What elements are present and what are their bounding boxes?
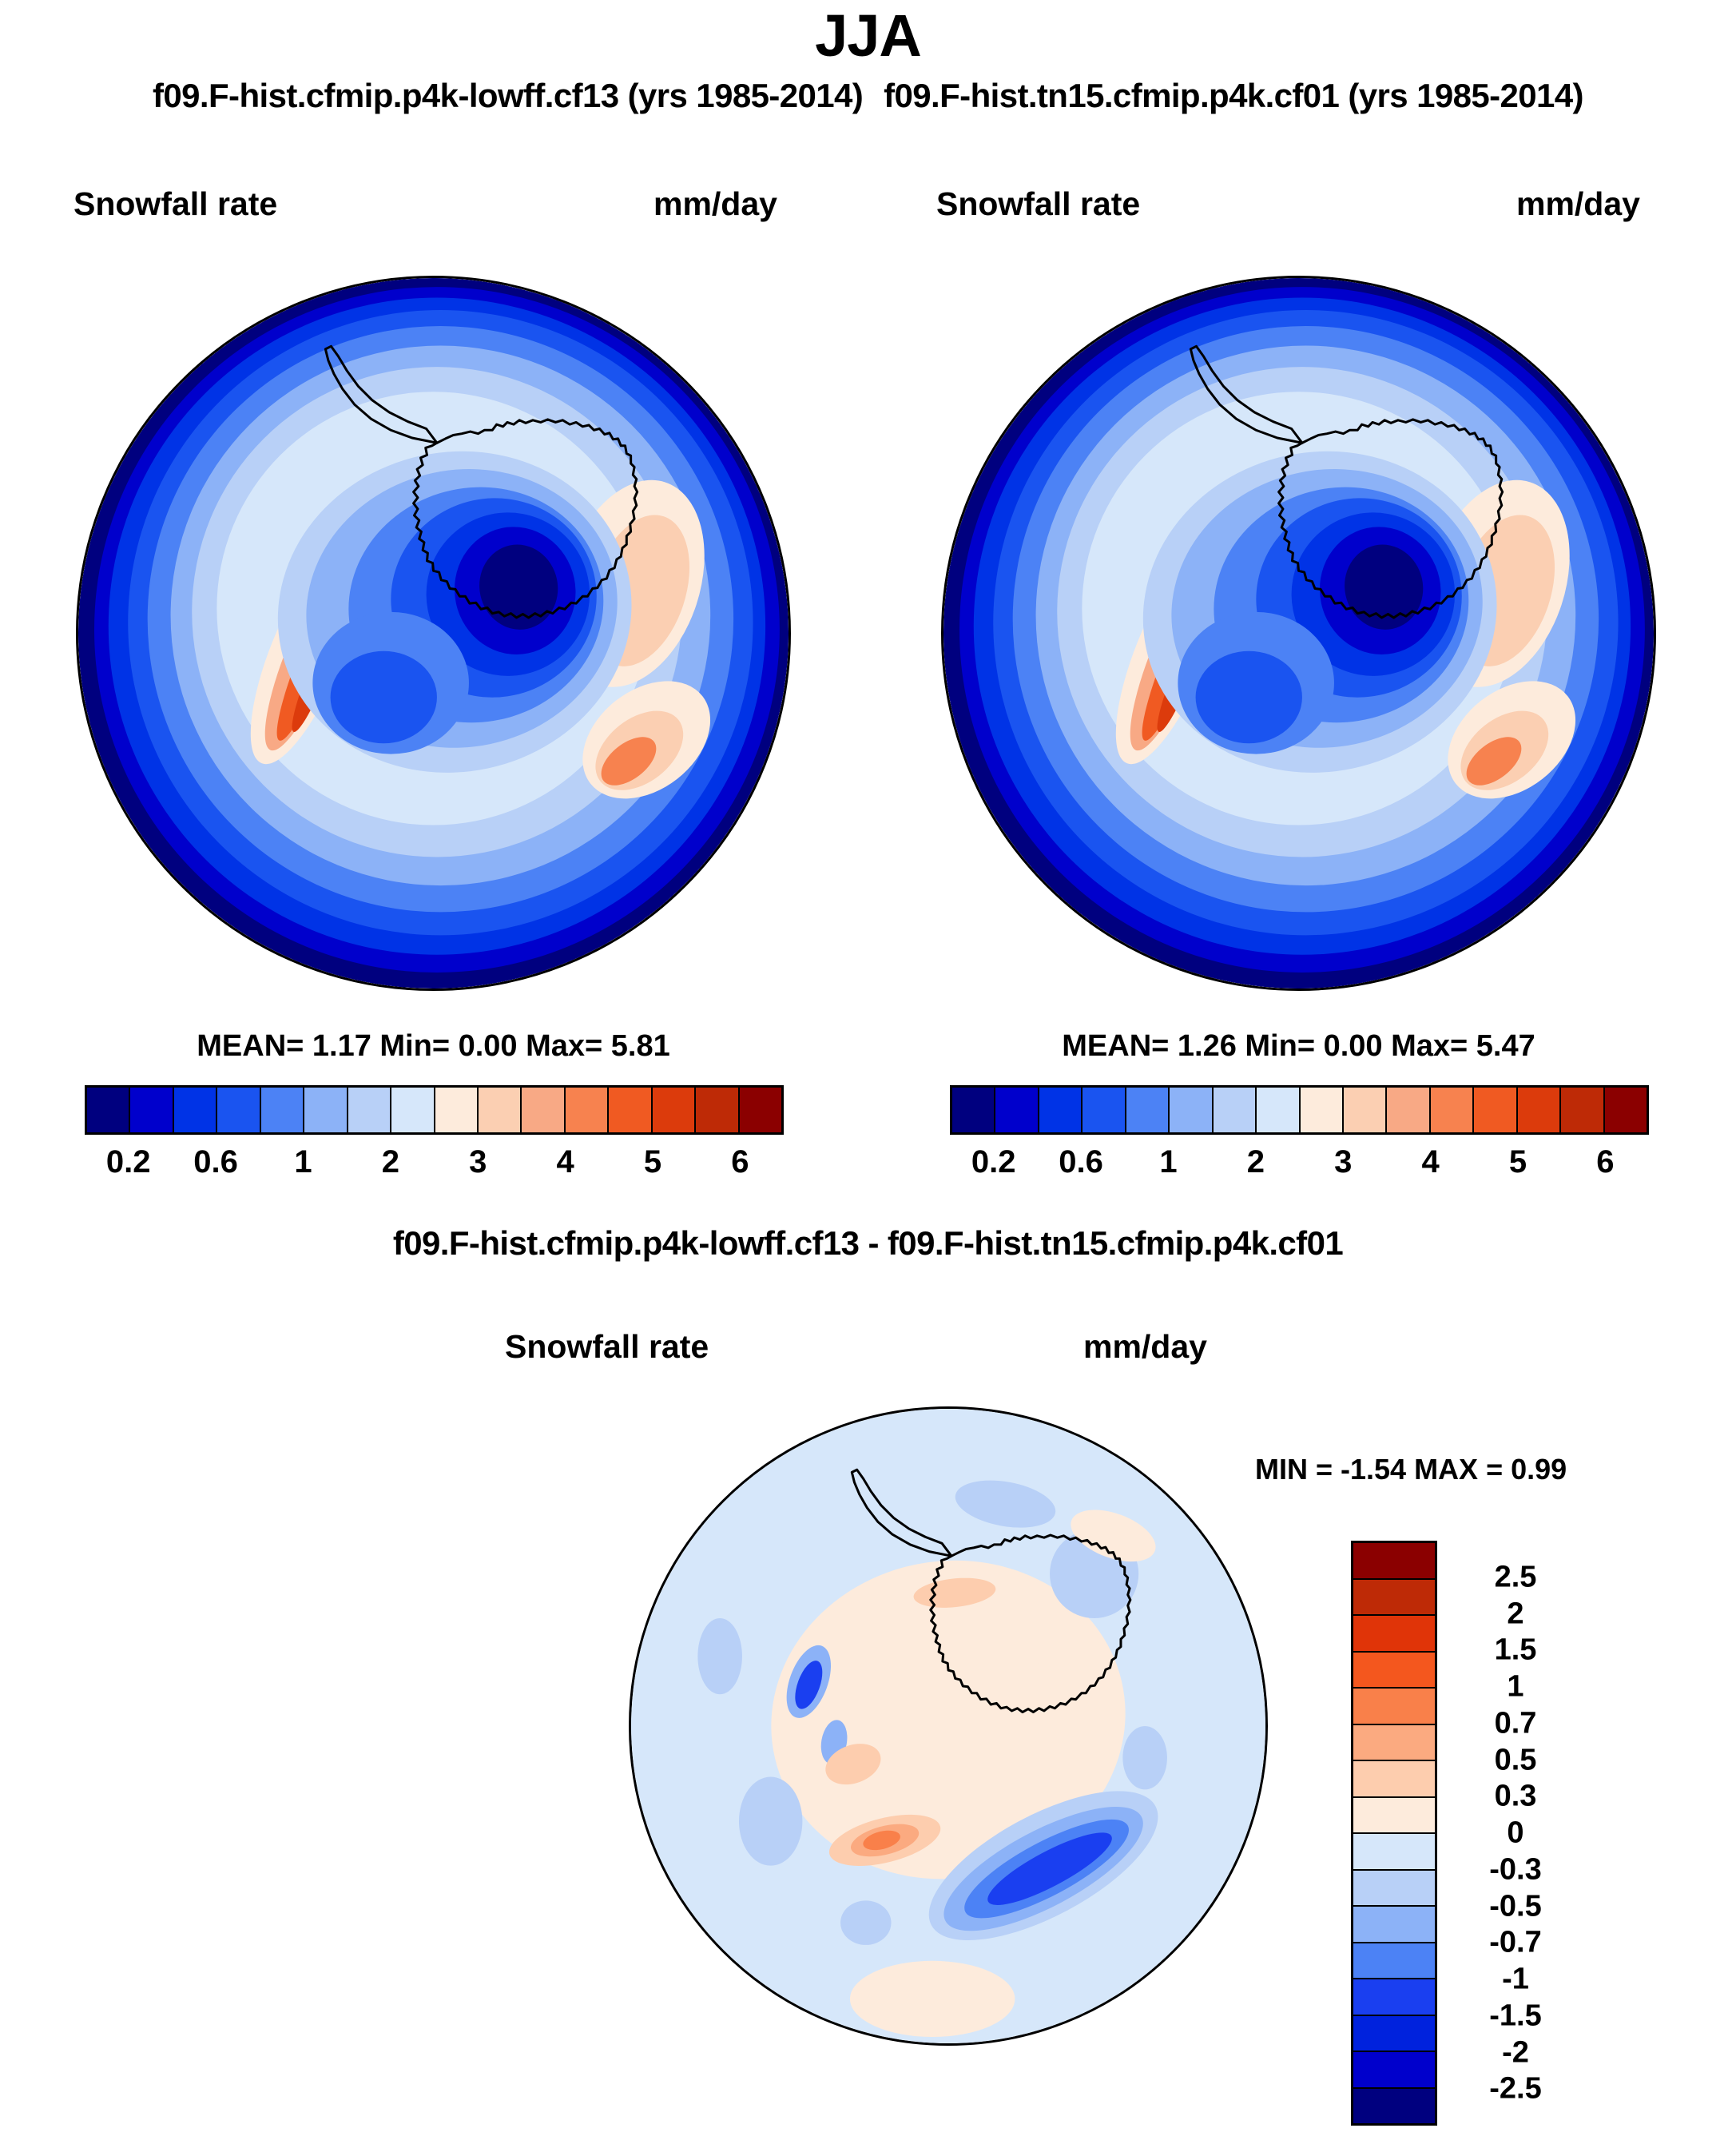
colorbar-tick-label: 0.3 <box>1448 1780 1583 1814</box>
colorbar-cell <box>1353 1907 1435 1943</box>
colorbar-cell <box>1353 1689 1435 1725</box>
colorbar-tick-label: 1 <box>1448 1670 1583 1704</box>
left-colorbar[interactable] <box>85 1085 784 1135</box>
colorbar-tick-label: 0.2 <box>106 1144 151 1180</box>
colorbar-tick-label: 5 <box>644 1144 661 1180</box>
case-titles: f09.F-hist.cfmip.p4k-lowff.cf13 (yrs 198… <box>0 77 1736 115</box>
colorbar-cell <box>1353 1834 1435 1871</box>
colorbar-cell <box>1039 1088 1083 1132</box>
colorbar-cell <box>1126 1088 1170 1132</box>
colorbar-tick-label: 3 <box>1334 1144 1352 1180</box>
difference-colorbar[interactable] <box>1351 1541 1437 2126</box>
colorbar-cell <box>1353 1616 1435 1653</box>
colorbar-tick-label: 2 <box>1448 1597 1583 1631</box>
colorbar-cell <box>1353 1725 1435 1762</box>
colorbar-cell <box>304 1088 348 1132</box>
colorbar-tick-label: 0.6 <box>1059 1144 1103 1180</box>
map-contours <box>631 1409 1265 2043</box>
right-panel-units-label: mm/day <box>1516 185 1640 223</box>
colorbar-cell <box>1344 1088 1387 1132</box>
colorbar-tick-label: 3 <box>469 1144 487 1180</box>
right-map-globe <box>941 276 1656 991</box>
right-colorbar-labels: 0.20.6123456 <box>950 1144 1649 1189</box>
colorbar-tick-label: -0.3 <box>1448 1852 1583 1887</box>
colorbar-cell <box>1301 1088 1344 1132</box>
colorbar-cell <box>522 1088 565 1132</box>
page-title: JJA <box>0 2 1736 70</box>
case-title-right: f09.F-hist.tn15.cfmip.p4k.cf01 (yrs 1985… <box>884 77 1583 114</box>
colorbar-cell <box>1561 1088 1604 1132</box>
colorbar-tick-label: 1 <box>294 1144 312 1180</box>
colorbar-tick-label: -2.5 <box>1448 2072 1583 2106</box>
colorbar-cell <box>1518 1088 1561 1132</box>
colorbar-tick-label: -0.5 <box>1448 1889 1583 1923</box>
colorbar-cell <box>261 1088 304 1132</box>
colorbar-cell <box>1353 1979 1435 2016</box>
colorbar-tick-label: 0 <box>1448 1816 1583 1851</box>
colorbar-tick-label: 0.2 <box>971 1144 1016 1180</box>
colorbar-cell <box>391 1088 435 1132</box>
colorbar-tick-label: -1 <box>1448 1963 1583 1997</box>
colorbar-tick-label: 1 <box>1159 1144 1177 1180</box>
colorbar-cell <box>696 1088 739 1132</box>
colorbar-tick-label: 0.7 <box>1448 1706 1583 1740</box>
colorbar-tick-label: 6 <box>1596 1144 1614 1180</box>
colorbar-cell <box>1214 1088 1257 1132</box>
colorbar-cell <box>1605 1088 1647 1132</box>
colorbar-cell <box>1353 1761 1435 1798</box>
colorbar-cell <box>740 1088 781 1132</box>
right-panel-variable-label: Snowfall rate <box>936 185 1140 223</box>
colorbar-cell <box>1353 2052 1435 2089</box>
colorbar-tick-label: 2 <box>382 1144 399 1180</box>
colorbar-cell <box>566 1088 609 1132</box>
colorbar-cell <box>130 1088 173 1132</box>
colorbar-tick-label: -2 <box>1448 2035 1583 2070</box>
colorbar-cell <box>1257 1088 1300 1132</box>
map-contours <box>943 278 1654 988</box>
colorbar-tick-label: 0.5 <box>1448 1743 1583 1777</box>
colorbar-tick-label: 6 <box>731 1144 749 1180</box>
right-colorbar[interactable] <box>950 1085 1649 1135</box>
colorbar-cell <box>609 1088 652 1132</box>
difference-map-globe <box>629 1406 1268 2046</box>
colorbar-cell <box>174 1088 217 1132</box>
colorbar-tick-label: -0.7 <box>1448 1926 1583 1960</box>
colorbar-tick-label: 2 <box>1247 1144 1265 1180</box>
colorbar-cell <box>1474 1088 1517 1132</box>
colorbar-cell <box>1353 1871 1435 1907</box>
colorbar-cell <box>479 1088 522 1132</box>
difference-panel-variable-label: Snowfall rate <box>505 1328 709 1366</box>
colorbar-cell <box>1353 1580 1435 1617</box>
map-contours <box>78 278 789 988</box>
left-map-globe <box>76 276 791 991</box>
colorbar-tick-label: 4 <box>1421 1144 1439 1180</box>
difference-panel-units-label: mm/day <box>1083 1328 1207 1366</box>
colorbar-cell <box>348 1088 391 1132</box>
colorbar-cell <box>217 1088 260 1132</box>
left-panel-stats: MEAN= 1.17 Min= 0.00 Max= 5.81 <box>76 1029 791 1064</box>
colorbar-cell <box>952 1088 995 1132</box>
colorbar-cell <box>87 1088 130 1132</box>
colorbar-cell <box>1431 1088 1474 1132</box>
difference-colorbar-labels: 2.521.510.70.50.30-0.3-0.5-0.7-1-1.5-2-2… <box>1448 1541 1583 2126</box>
colorbar-cell <box>1353 1653 1435 1689</box>
colorbar-tick-label: 0.6 <box>193 1144 238 1180</box>
colorbar-tick-label: 2.5 <box>1448 1560 1583 1594</box>
difference-minmax-label: MIN = -1.54 MAX = 0.99 <box>1255 1453 1567 1486</box>
colorbar-tick-label: 5 <box>1509 1144 1527 1180</box>
colorbar-cell <box>1353 2089 1435 2124</box>
colorbar-cell <box>1387 1088 1430 1132</box>
colorbar-cell <box>1353 1943 1435 1980</box>
colorbar-cell <box>435 1088 479 1132</box>
colorbar-tick-label: -1.5 <box>1448 1999 1583 2033</box>
figure-canvas: JJA f09.F-hist.cfmip.p4k-lowff.cf13 (yrs… <box>0 0 1736 2152</box>
colorbar-cell <box>1353 1543 1435 1580</box>
left-panel-units-label: mm/day <box>653 185 777 223</box>
difference-title: f09.F-hist.cfmip.p4k-lowff.cf13 - f09.F-… <box>0 1224 1736 1263</box>
colorbar-cell <box>653 1088 696 1132</box>
colorbar-cell <box>1170 1088 1213 1132</box>
colorbar-cell <box>1083 1088 1126 1132</box>
colorbar-tick-label: 1.5 <box>1448 1633 1583 1668</box>
left-colorbar-labels: 0.20.6123456 <box>85 1144 784 1189</box>
colorbar-cell <box>1353 1798 1435 1835</box>
colorbar-cell <box>995 1088 1039 1132</box>
colorbar-tick-label: 4 <box>556 1144 574 1180</box>
case-title-left: f09.F-hist.cfmip.p4k-lowff.cf13 (yrs 198… <box>153 77 863 114</box>
left-panel-variable-label: Snowfall rate <box>73 185 277 223</box>
right-panel-stats: MEAN= 1.26 Min= 0.00 Max= 5.47 <box>941 1029 1656 1064</box>
colorbar-cell <box>1353 2016 1435 2053</box>
